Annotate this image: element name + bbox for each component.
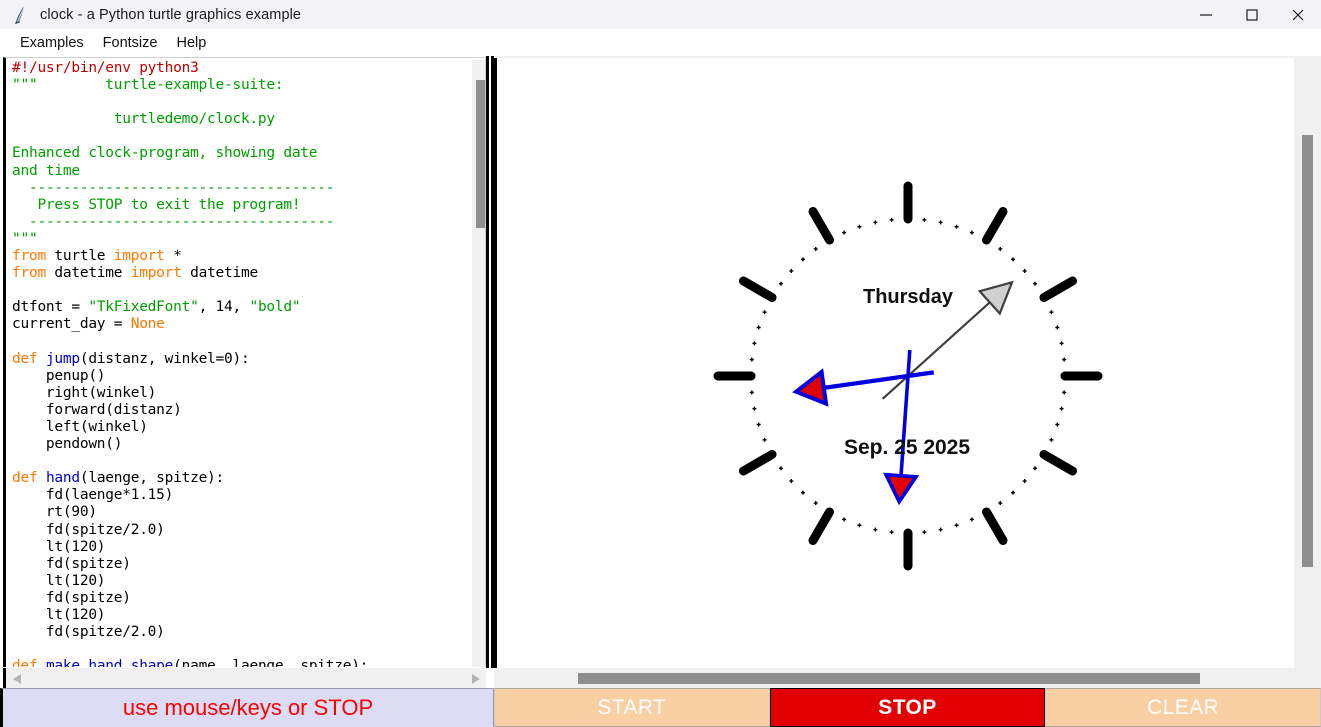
code-token: fd(spitze): [12, 556, 131, 572]
control-button-bar: START STOP CLEAR: [494, 688, 1321, 727]
code-line: Enhanced clock-program, showing date: [12, 145, 482, 162]
python-feather-icon: [10, 5, 30, 25]
clock-minute-dot: [801, 257, 805, 261]
code-line: Press STOP to exit the program!: [12, 197, 482, 214]
code-line: lt(120): [12, 607, 482, 624]
code-line: def make_hand_shape(name, laenge, spitze…: [12, 658, 482, 667]
scroll-right-arrow-icon[interactable]: [464, 673, 486, 685]
titlebar-left-group: clock - a Python turtle graphics example: [0, 0, 1183, 29]
clock-minute-dot: [922, 530, 926, 534]
menu-examples[interactable]: Examples: [11, 33, 93, 54]
clock-hour-mark: [743, 455, 772, 472]
code-line: [12, 282, 482, 299]
clock-minute-dot: [1033, 466, 1037, 470]
clock-minute-dot: [1049, 438, 1053, 442]
clock-hands: [796, 282, 1012, 501]
code-token: """: [12, 231, 37, 247]
code-line: [12, 128, 482, 145]
code-line: ------------------------------------: [12, 214, 482, 231]
clock-demo-window: clock - a Python turtle graphics example…: [0, 0, 1321, 727]
maximize-button[interactable]: [1229, 0, 1275, 29]
code-line: fd(spitze/2.0): [12, 624, 482, 641]
code-line: pendown(): [12, 436, 482, 453]
clock-minute-dot: [814, 501, 818, 505]
code-token: fd(laenge*1.15): [12, 487, 173, 503]
canvas-horizontal-scrollbar-thumb[interactable]: [578, 673, 1200, 684]
clock-minute-dot: [779, 466, 783, 470]
clock-minute-dot: [857, 225, 861, 229]
code-line: dtfont = "TkFixedFont", 14, "bold": [12, 299, 482, 316]
clock-minute-dot: [789, 269, 793, 273]
status-bar: use mouse/keys or STOP: [0, 688, 494, 727]
code-token: pendown(): [12, 436, 122, 452]
clock-minute-dot: [750, 390, 754, 394]
code-token: (name, laenge, spitze):: [173, 658, 368, 667]
clock-hour-mark: [743, 281, 772, 298]
code-line: from turtle import *: [12, 248, 482, 265]
clock-minute-dot: [814, 247, 818, 251]
close-button[interactable]: [1275, 0, 1321, 29]
code-token: , 14,: [199, 299, 250, 315]
code-token: import: [114, 248, 165, 264]
code-line: ------------------------------------: [12, 180, 482, 197]
menu-fontsize[interactable]: Fontsize: [94, 33, 167, 54]
code-horizontal-scrollbar[interactable]: [3, 668, 486, 690]
clock-minute-dot: [842, 231, 846, 235]
clock-drawing: Thursday Sep. 25 2025: [497, 58, 1297, 718]
clock-minute-dot: [1055, 423, 1059, 427]
clock-minute-dot: [857, 523, 861, 527]
code-token: from: [12, 265, 46, 281]
clock-minute-dot: [752, 407, 756, 411]
code-token: fd(spitze/2.0): [12, 624, 165, 640]
clock-minute-dot: [873, 220, 877, 224]
clock-minute-dot: [757, 325, 761, 329]
code-line: lt(120): [12, 539, 482, 556]
clock-minute-dot: [1011, 257, 1015, 261]
code-token: turtledemo/clock.py: [12, 111, 275, 127]
clock-minute-dot: [1033, 282, 1037, 286]
code-line: from datetime import datetime: [12, 265, 482, 282]
code-line: rt(90): [12, 504, 482, 521]
code-token: def: [12, 470, 37, 486]
clock-minute-dot: [1011, 491, 1015, 495]
code-token: def: [12, 351, 37, 367]
code-line: """ turtle-example-suite:: [12, 77, 482, 94]
clock-minute-dot: [1023, 479, 1027, 483]
code-token: """ turtle-example-suite:: [12, 77, 283, 93]
code-token: "bold": [249, 299, 300, 315]
clear-button[interactable]: CLEAR: [1045, 688, 1321, 727]
clock-hour-mark: [987, 211, 1004, 240]
code-token: jump: [46, 351, 80, 367]
clock-minute-dot: [890, 530, 894, 534]
code-text: #!/usr/bin/env python3""" turtle-example…: [12, 60, 482, 667]
clock-minute-dot: [1060, 407, 1064, 411]
code-line: def jump(distanz, winkel=0):: [12, 351, 482, 368]
code-line: def hand(laenge, spitze):: [12, 470, 482, 487]
clock-minute-dot: [955, 225, 959, 229]
clock-minute-dot: [763, 438, 767, 442]
clock-minute-dot: [757, 423, 761, 427]
code-token: ------------------------------------: [12, 180, 334, 196]
clock-minute-dot: [789, 479, 793, 483]
code-token: import: [131, 265, 182, 281]
code-line: #!/usr/bin/env python3: [12, 60, 482, 77]
code-token: right(winkel): [12, 385, 156, 401]
code-line: [12, 334, 482, 351]
code-token: forward(distanz): [12, 402, 182, 418]
clock-minute-dot: [1049, 310, 1053, 314]
turtle-canvas[interactable]: Thursday Sep. 25 2025: [494, 58, 1294, 718]
minimize-button[interactable]: [1183, 0, 1229, 29]
clock-hour-hand: [796, 372, 934, 404]
clock-minute-dot: [1062, 358, 1066, 362]
canvas-vertical-scrollbar[interactable]: [1297, 58, 1317, 718]
turtle-canvas-pane: Thursday Sep. 25 2025: [494, 56, 1321, 687]
code-line: """: [12, 231, 482, 248]
clock-minute-dot: [955, 523, 959, 527]
code-line: penup(): [12, 368, 482, 385]
start-button[interactable]: START: [494, 688, 770, 727]
canvas-horizontal-scrollbar[interactable]: [494, 668, 1321, 690]
clock-date-label: Sep. 25 2025: [844, 436, 970, 459]
clock-hour-mark: [813, 211, 830, 240]
clock-hour-mark: [813, 512, 830, 541]
code-line: current_day = None: [12, 316, 482, 333]
window-titlebar: clock - a Python turtle graphics example: [0, 0, 1321, 29]
code-token: and time: [12, 163, 80, 179]
clock-minute-dot: [801, 491, 805, 495]
clock-minute-dot: [970, 517, 974, 521]
code-token: [37, 658, 45, 667]
clock-weekday-label: Thursday: [863, 286, 954, 308]
clock-minute-dot: [890, 218, 894, 222]
clock-minute-dot: [1060, 341, 1064, 345]
code-token: (laenge, spitze):: [80, 470, 224, 486]
menubar: Examples Fontsize Help: [0, 29, 1321, 58]
code-token: #!/usr/bin/env python3: [12, 60, 199, 76]
code-token: *: [165, 248, 182, 264]
code-token: lt(120): [12, 539, 105, 555]
clock-hour-mark: [1044, 281, 1073, 298]
code-token: None: [131, 316, 165, 332]
code-token: lt(120): [12, 573, 105, 589]
code-token: "TkFixedFont": [88, 299, 198, 315]
clock-minute-dot: [939, 220, 943, 224]
code-line: turtledemo/clock.py: [12, 111, 482, 128]
code-token: [37, 351, 45, 367]
stop-button[interactable]: STOP: [770, 688, 1046, 727]
clock-minute-dot: [842, 517, 846, 521]
code-line: left(winkel): [12, 419, 482, 436]
code-token: current_day =: [12, 316, 131, 332]
code-token: lt(120): [12, 607, 105, 623]
code-token: datetime: [46, 265, 131, 281]
pane-divider: [486, 56, 494, 668]
clock-minute-dot: [763, 310, 767, 314]
code-token: rt(90): [12, 504, 97, 520]
code-line: lt(120): [12, 573, 482, 590]
code-token: fd(spitze): [12, 590, 131, 606]
clock-minute-dot: [970, 231, 974, 235]
code-token: def: [12, 658, 37, 667]
scroll-left-arrow-icon[interactable]: [6, 673, 28, 685]
code-line: fd(spitze): [12, 556, 482, 573]
code-line: [12, 94, 482, 111]
clock-minute-dot: [750, 358, 754, 362]
code-token: left(winkel): [12, 419, 148, 435]
status-message: use mouse/keys or STOP: [123, 695, 373, 721]
code-token: [37, 470, 45, 486]
clock-minute-dot: [873, 528, 877, 532]
code-line: [12, 641, 482, 658]
code-token: penup(): [12, 368, 105, 384]
code-token: Enhanced clock-program, showing date: [12, 145, 317, 161]
code-vertical-scrollbar-thumb[interactable]: [476, 80, 486, 228]
code-token: dtfont =: [12, 299, 88, 315]
clock-minute-dot: [1062, 390, 1066, 394]
code-line: forward(distanz): [12, 402, 482, 419]
clock-minute-dot: [1055, 325, 1059, 329]
clock-minute-dot: [779, 282, 783, 286]
code-token: (distanz, winkel=0):: [80, 351, 250, 367]
canvas-vertical-scrollbar-thumb[interactable]: [1302, 135, 1313, 567]
code-line: fd(laenge*1.15): [12, 487, 482, 504]
clock-hour-mark: [1044, 455, 1073, 472]
menu-help[interactable]: Help: [167, 33, 215, 54]
code-editor[interactable]: #!/usr/bin/env python3""" turtle-example…: [3, 57, 486, 667]
window-title: clock - a Python turtle graphics example: [40, 7, 301, 23]
code-vertical-scrollbar[interactable]: [472, 60, 486, 667]
clock-minute-dot: [998, 247, 1002, 251]
code-token: Press STOP to exit the program!: [12, 197, 300, 213]
code-line: right(winkel): [12, 385, 482, 402]
clock-minute-dot: [922, 218, 926, 222]
code-line: and time: [12, 163, 482, 180]
code-token: make_hand_shape: [46, 658, 173, 667]
clock-minute-dot: [939, 528, 943, 532]
clock-minute-dot: [752, 341, 756, 345]
code-token: ------------------------------------: [12, 214, 334, 230]
code-line: fd(spitze/2.0): [12, 522, 482, 539]
code-token: fd(spitze/2.0): [12, 522, 165, 538]
code-line: [12, 453, 482, 470]
code-token: datetime: [182, 265, 258, 281]
source-code-pane: #!/usr/bin/env python3""" turtle-example…: [0, 56, 494, 687]
clock-hour-mark: [987, 512, 1004, 541]
code-token: hand: [46, 470, 80, 486]
code-line: fd(spitze): [12, 590, 482, 607]
code-token: from: [12, 248, 46, 264]
code-token: turtle: [46, 248, 114, 264]
clock-minute-dot: [998, 501, 1002, 505]
clock-minute-dot: [1023, 269, 1027, 273]
